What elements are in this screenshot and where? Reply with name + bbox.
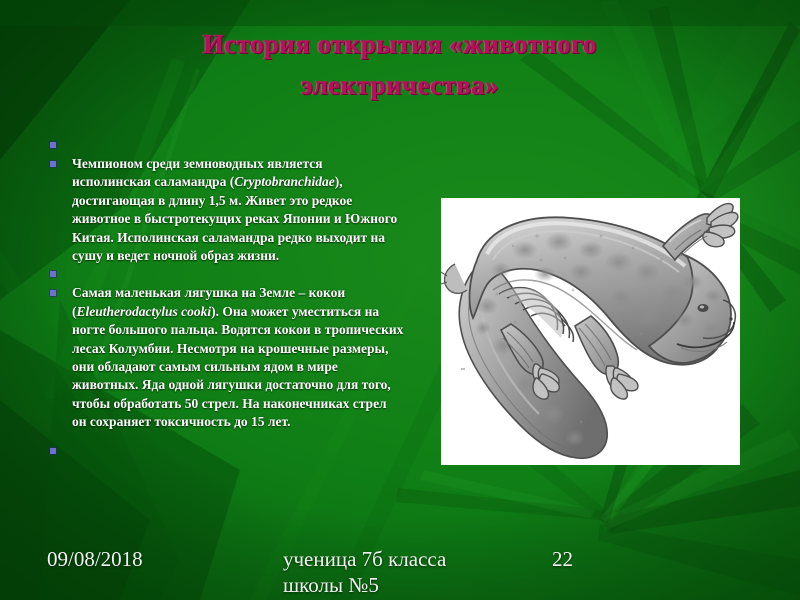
bullet-row-empty-2 [44, 265, 404, 284]
slide-title-line-1: История открытия «животного [120, 24, 680, 65]
bullet-row-empty-3 [44, 442, 404, 461]
salamander-image [441, 198, 740, 465]
footer-author: ученица 7б класса школы №5 [283, 546, 446, 598]
presentation-slide: История открытия «животного электричеств… [0, 0, 800, 600]
bullet-square-icon [50, 142, 56, 148]
bullet-row-paragraph-1: Чемпионом среди земноводных является исп… [44, 155, 404, 265]
slide-title: История открытия «животного электричеств… [120, 24, 680, 106]
giant-salamander-drawing [441, 198, 740, 465]
bullet-square-icon [50, 290, 56, 296]
slide-body-content: Чемпионом среди земноводных является исп… [44, 136, 404, 461]
footer-date: 09/08/2018 [47, 546, 143, 572]
slide-title-line-2: электричества» [120, 65, 680, 106]
bullet-square-icon [50, 161, 56, 167]
footer-slide-number: 22 [552, 546, 573, 572]
paragraph-text-1: Чемпионом среди земноводных является исп… [72, 155, 404, 265]
paragraph-text-2: Самая маленькая лягушка на Земле – кокои… [72, 284, 404, 431]
bullet-square-icon [50, 448, 56, 454]
bullet-row-empty-1 [44, 136, 404, 155]
bullet-square-icon [50, 271, 56, 277]
bullet-row-paragraph-2: Самая маленькая лягушка на Земле – кокои… [44, 284, 404, 431]
